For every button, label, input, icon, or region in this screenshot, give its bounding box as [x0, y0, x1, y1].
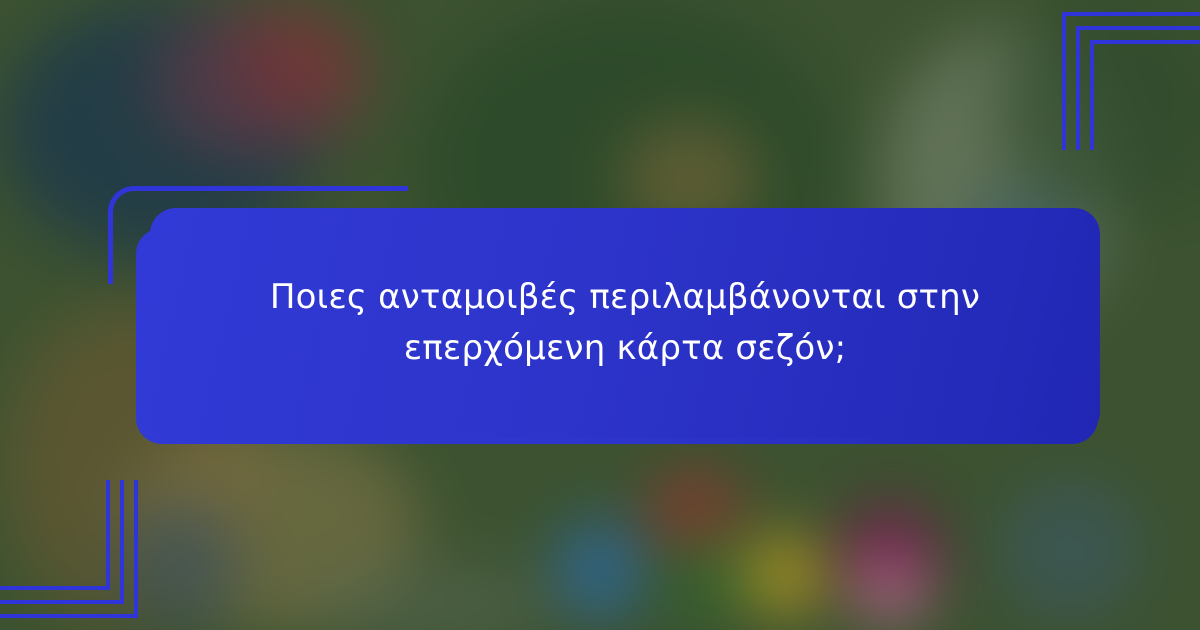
question-card: Ποιες ανταμοιβές περιλαμβάνονται στην επ…: [150, 208, 1100, 438]
promo-card-image: Ποιες ανταμοιβές περιλαμβάνονται στην επ…: [0, 0, 1200, 630]
background-blob: [1000, 480, 1140, 620]
background-blob: [555, 520, 645, 620]
question-text: Ποιες ανταμοιβές περιλαμβάνονται στην επ…: [221, 272, 1029, 374]
background-blob: [120, 500, 240, 630]
background-blob: [855, 555, 925, 625]
card-stack: Ποιες ανταμοιβές περιλαμβάνονται στην επ…: [108, 186, 1104, 444]
background-blob: [745, 535, 825, 615]
background-blob: [230, 10, 360, 120]
